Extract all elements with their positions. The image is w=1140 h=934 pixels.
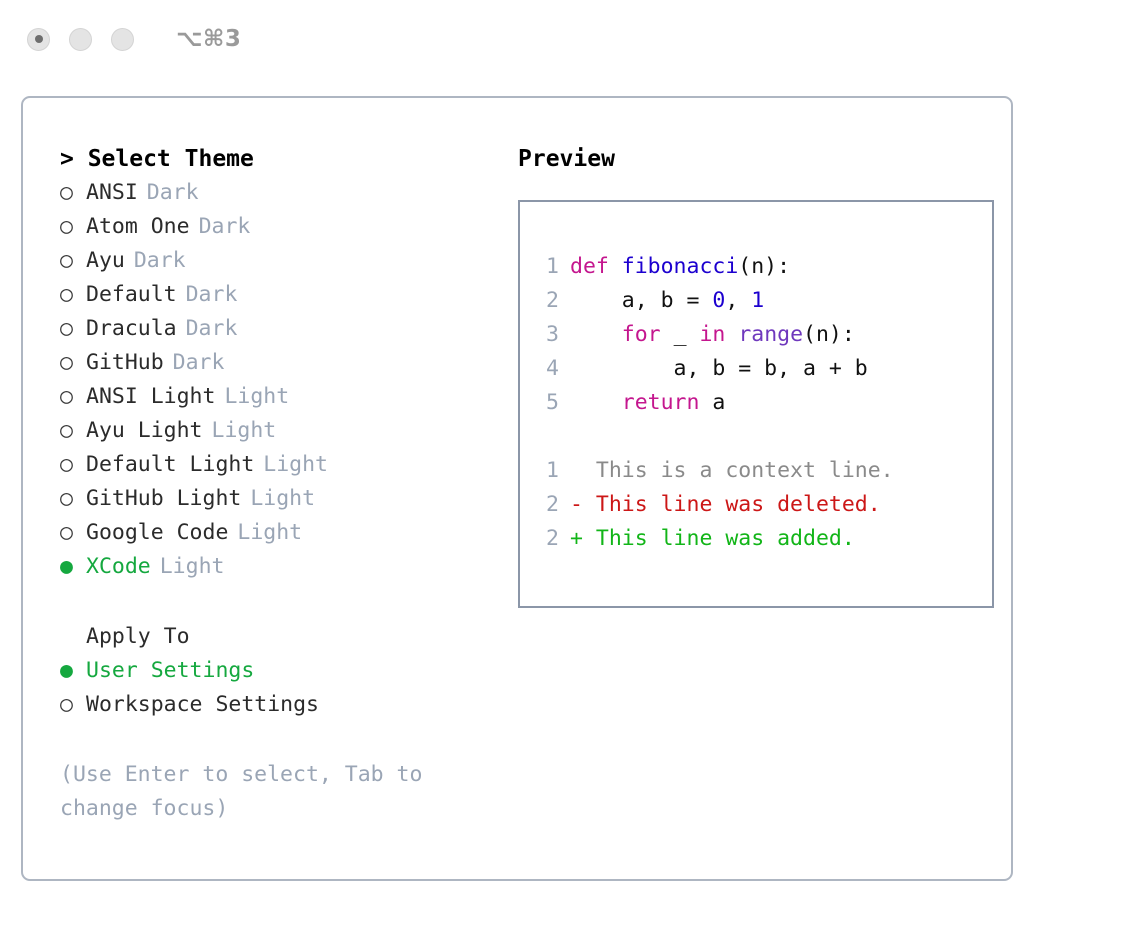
theme-option-dracula[interactable]: ○DraculaDark — [60, 312, 501, 346]
theme-option-xcode[interactable]: ●XCodeLight — [60, 550, 501, 584]
theme-option-label: XCode — [86, 550, 151, 584]
code-line-number: 3 — [539, 318, 559, 352]
window-titlebar: ⌥⌘3 — [0, 0, 1140, 78]
code-token: (n): — [803, 322, 855, 347]
code-line-number: 4 — [539, 352, 559, 386]
code-line-number: 2 — [539, 284, 559, 318]
theme-variant-badge: Dark — [199, 210, 251, 244]
diff-line-number: 2 — [539, 488, 559, 522]
theme-variant-badge: Dark — [186, 312, 238, 346]
code-token: in — [699, 322, 725, 347]
code-line-text: def fibonacci(n): — [570, 250, 790, 284]
code-token: range — [738, 322, 803, 347]
preview-panel: Preview 1def fibonacci(n):2 a, b = 0, 13… — [501, 142, 994, 826]
code-line: 2 a, b = 0, 1 — [539, 284, 992, 318]
code-spacer — [539, 420, 992, 454]
code-token: fibonacci — [622, 254, 739, 279]
apply-to-section: Apply To ●User Settings○Workspace Settin… — [60, 620, 501, 722]
theme-variant-badge: Light — [224, 380, 289, 414]
keyboard-hint-text: (Use Enter to select, Tab to change focu… — [60, 758, 460, 826]
radio-unselected-icon: ○ — [60, 688, 86, 722]
code-line: 4 a, b = b, a + b — [539, 352, 992, 386]
theme-variant-badge: Dark — [186, 278, 238, 312]
apply-to-list: ●User Settings○Workspace Settings — [60, 654, 501, 722]
radio-unselected-icon: ○ — [60, 312, 86, 346]
theme-variant-badge: Light — [160, 550, 225, 584]
code-token: for — [622, 322, 661, 347]
theme-variant-badge: Light — [263, 448, 328, 482]
theme-option-label: GitHub — [86, 346, 164, 380]
theme-list: ○ANSIDark○Atom OneDark○AyuDark○DefaultDa… — [60, 176, 501, 584]
preview-heading: Preview — [518, 142, 994, 176]
theme-option-label: GitHub Light — [86, 482, 241, 516]
theme-option-google-code[interactable]: ○Google CodeLight — [60, 516, 501, 550]
radio-unselected-icon: ○ — [60, 414, 86, 448]
diff-line-text: This is a context line. — [570, 454, 894, 488]
theme-option-label: Google Code — [86, 516, 228, 550]
theme-variant-badge: Dark — [147, 176, 199, 210]
code-line-text: return a — [570, 386, 725, 420]
code-line-text: a, b = 0, 1 — [570, 284, 764, 318]
code-token: a, b = — [570, 288, 712, 313]
traffic-light-inner-dot — [35, 35, 43, 43]
theme-option-label: Default Light — [86, 448, 254, 482]
code-token: return — [622, 390, 700, 415]
theme-selection-panel: > Select Theme ○ANSIDark○Atom OneDark○Ay… — [39, 142, 501, 826]
code-token: _ — [661, 322, 700, 347]
theme-option-label: Default — [86, 278, 177, 312]
diff-line-text: + This line was added. — [570, 522, 855, 556]
diff-sample: 1 This is a context line.2- This line wa… — [539, 454, 992, 556]
code-line-text: a, b = b, a + b — [570, 352, 868, 386]
theme-variant-badge: Dark — [134, 244, 186, 278]
theme-option-label: Ayu — [86, 244, 125, 278]
preview-code-box: 1def fibonacci(n):2 a, b = 0, 13 for _ i… — [518, 200, 994, 608]
code-line-number: 5 — [539, 386, 559, 420]
radio-unselected-icon: ○ — [60, 346, 86, 380]
code-line-text: for _ in range(n): — [570, 318, 855, 352]
radio-unselected-icon: ○ — [60, 380, 86, 414]
code-token: 1 — [751, 288, 764, 313]
apply-to-option-user-settings[interactable]: ●User Settings — [60, 654, 501, 688]
keyboard-shortcut-label: ⌥⌘3 — [176, 26, 241, 52]
radio-unselected-icon: ○ — [60, 210, 86, 244]
diff-line-number: 2 — [539, 522, 559, 556]
window-traffic-lights — [27, 28, 134, 51]
theme-option-default[interactable]: ○DefaultDark — [60, 278, 501, 312]
theme-variant-badge: Light — [237, 516, 302, 550]
theme-option-label: Dracula — [86, 312, 177, 346]
code-token: (n): — [738, 254, 790, 279]
theme-option-label: ANSI Light — [86, 380, 215, 414]
radio-unselected-icon: ○ — [60, 482, 86, 516]
apply-to-heading: Apply To — [60, 620, 501, 654]
theme-variant-badge: Light — [212, 414, 277, 448]
radio-unselected-icon: ○ — [60, 176, 86, 210]
code-token — [570, 322, 622, 347]
diff-line: 1 This is a context line. — [539, 454, 992, 488]
select-theme-heading: > Select Theme — [60, 142, 501, 176]
theme-variant-badge: Light — [250, 482, 315, 516]
theme-option-label: Ayu Light — [86, 414, 203, 448]
main-card: > Select Theme ○ANSIDark○Atom OneDark○Ay… — [21, 96, 1013, 881]
radio-selected-icon: ● — [60, 654, 86, 688]
traffic-light-third-icon[interactable] — [111, 28, 134, 51]
code-line: 1def fibonacci(n): — [539, 250, 992, 284]
theme-option-github-light[interactable]: ○GitHub LightLight — [60, 482, 501, 516]
theme-variant-badge: Dark — [173, 346, 225, 380]
theme-option-ayu-light[interactable]: ○Ayu LightLight — [60, 414, 501, 448]
code-line: 5 return a — [539, 386, 992, 420]
theme-option-label: ANSI — [86, 176, 138, 210]
theme-option-ansi[interactable]: ○ANSIDark — [60, 176, 501, 210]
traffic-light-second-icon[interactable] — [69, 28, 92, 51]
code-line: 3 for _ in range(n): — [539, 318, 992, 352]
diff-line: 2- This line was deleted. — [539, 488, 992, 522]
radio-selected-icon: ● — [60, 550, 86, 584]
code-token: a, b = b, a + b — [570, 356, 868, 381]
theme-option-github[interactable]: ○GitHubDark — [60, 346, 501, 380]
code-line-number: 1 — [539, 250, 559, 284]
radio-unselected-icon: ○ — [60, 448, 86, 482]
code-sample: 1def fibonacci(n):2 a, b = 0, 13 for _ i… — [539, 250, 992, 420]
diff-line: 2+ This line was added. — [539, 522, 992, 556]
theme-option-label: Atom One — [86, 210, 190, 244]
theme-option-ayu[interactable]: ○AyuDark — [60, 244, 501, 278]
radio-unselected-icon: ○ — [60, 244, 86, 278]
traffic-light-active-icon[interactable] — [27, 28, 50, 51]
diff-line-text: - This line was deleted. — [570, 488, 881, 522]
theme-option-atom-one[interactable]: ○Atom OneDark — [60, 210, 501, 244]
diff-line-number: 1 — [539, 454, 559, 488]
theme-option-ansi-light[interactable]: ○ANSI LightLight — [60, 380, 501, 414]
code-token: def — [570, 254, 622, 279]
code-token: a — [699, 390, 725, 415]
code-token — [570, 390, 622, 415]
apply-to-option-workspace-settings[interactable]: ○Workspace Settings — [60, 688, 501, 722]
code-token: 0 — [712, 288, 725, 313]
apply-to-option-label: User Settings — [86, 654, 254, 688]
radio-unselected-icon: ○ — [60, 278, 86, 312]
radio-unselected-icon: ○ — [60, 516, 86, 550]
theme-option-default-light[interactable]: ○Default LightLight — [60, 448, 501, 482]
code-token: , — [725, 288, 751, 313]
code-token — [725, 322, 738, 347]
apply-to-option-label: Workspace Settings — [86, 688, 319, 722]
